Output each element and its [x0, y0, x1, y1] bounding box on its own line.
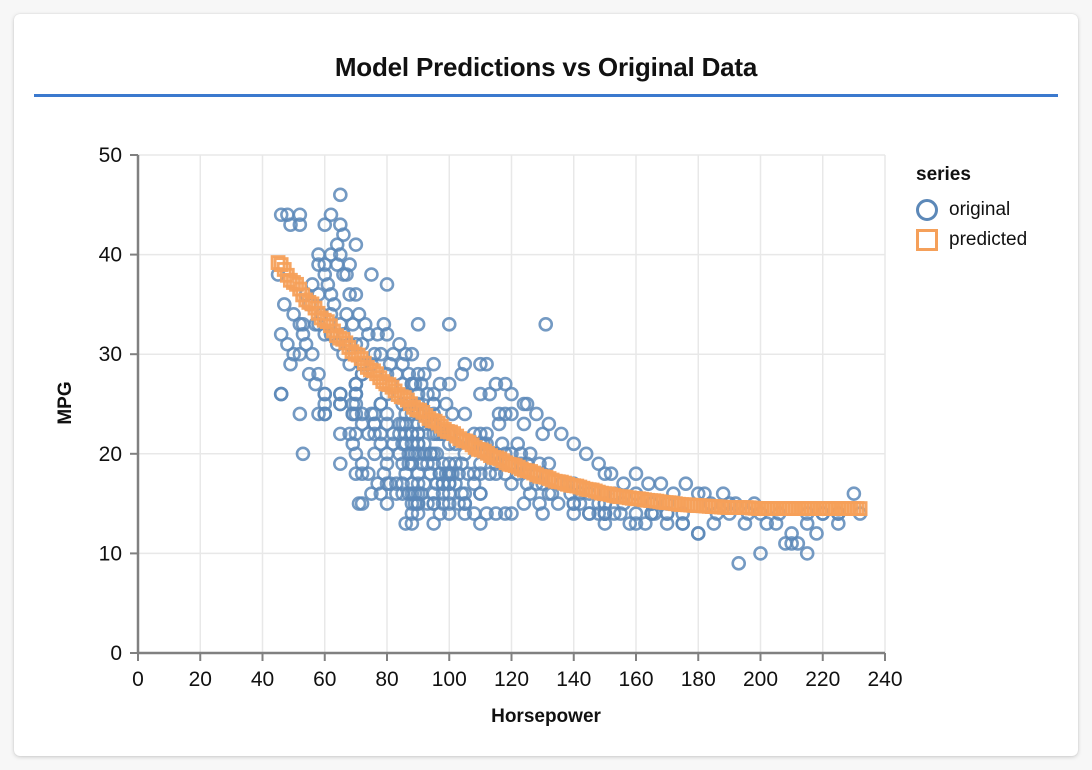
- svg-text:0: 0: [132, 668, 144, 691]
- legend-item-original[interactable]: original: [916, 195, 1066, 225]
- svg-text:120: 120: [494, 668, 529, 691]
- svg-text:80: 80: [375, 668, 398, 691]
- svg-text:240: 240: [867, 668, 902, 691]
- plot-area: 0204060801001201401601802002202400102030…: [14, 14, 1078, 756]
- svg-text:20: 20: [189, 668, 212, 691]
- svg-text:20: 20: [99, 443, 122, 466]
- svg-text:10: 10: [99, 542, 122, 565]
- svg-text:60: 60: [313, 668, 336, 691]
- svg-text:160: 160: [618, 668, 653, 691]
- svg-text:40: 40: [251, 668, 274, 691]
- legend-label-original: original: [949, 199, 1010, 221]
- svg-text:220: 220: [805, 668, 840, 691]
- svg-text:200: 200: [743, 668, 778, 691]
- screenshot-root: Model Predictions vs Original Data 02040…: [0, 0, 1092, 770]
- svg-text:50: 50: [99, 144, 122, 167]
- legend-label-predicted: predicted: [949, 229, 1027, 251]
- scatter-plot-svg: 0204060801001201401601802002202400102030…: [14, 14, 1078, 756]
- svg-text:0: 0: [110, 642, 122, 665]
- svg-text:140: 140: [556, 668, 591, 691]
- gridlines: [138, 155, 885, 653]
- legend-title: series: [916, 164, 1066, 186]
- square-marker-icon: [916, 229, 938, 251]
- chart-card: Model Predictions vs Original Data 02040…: [14, 14, 1078, 756]
- svg-text:40: 40: [99, 244, 122, 267]
- legend: series original predicted: [916, 164, 1066, 255]
- svg-text:100: 100: [432, 668, 467, 691]
- y-axis-label: MPG: [55, 343, 77, 463]
- svg-text:180: 180: [681, 668, 716, 691]
- x-axis-label: Horsepower: [14, 706, 1078, 728]
- svg-text:30: 30: [99, 343, 122, 366]
- legend-item-predicted[interactable]: predicted: [916, 225, 1066, 255]
- circle-marker-icon: [916, 199, 938, 221]
